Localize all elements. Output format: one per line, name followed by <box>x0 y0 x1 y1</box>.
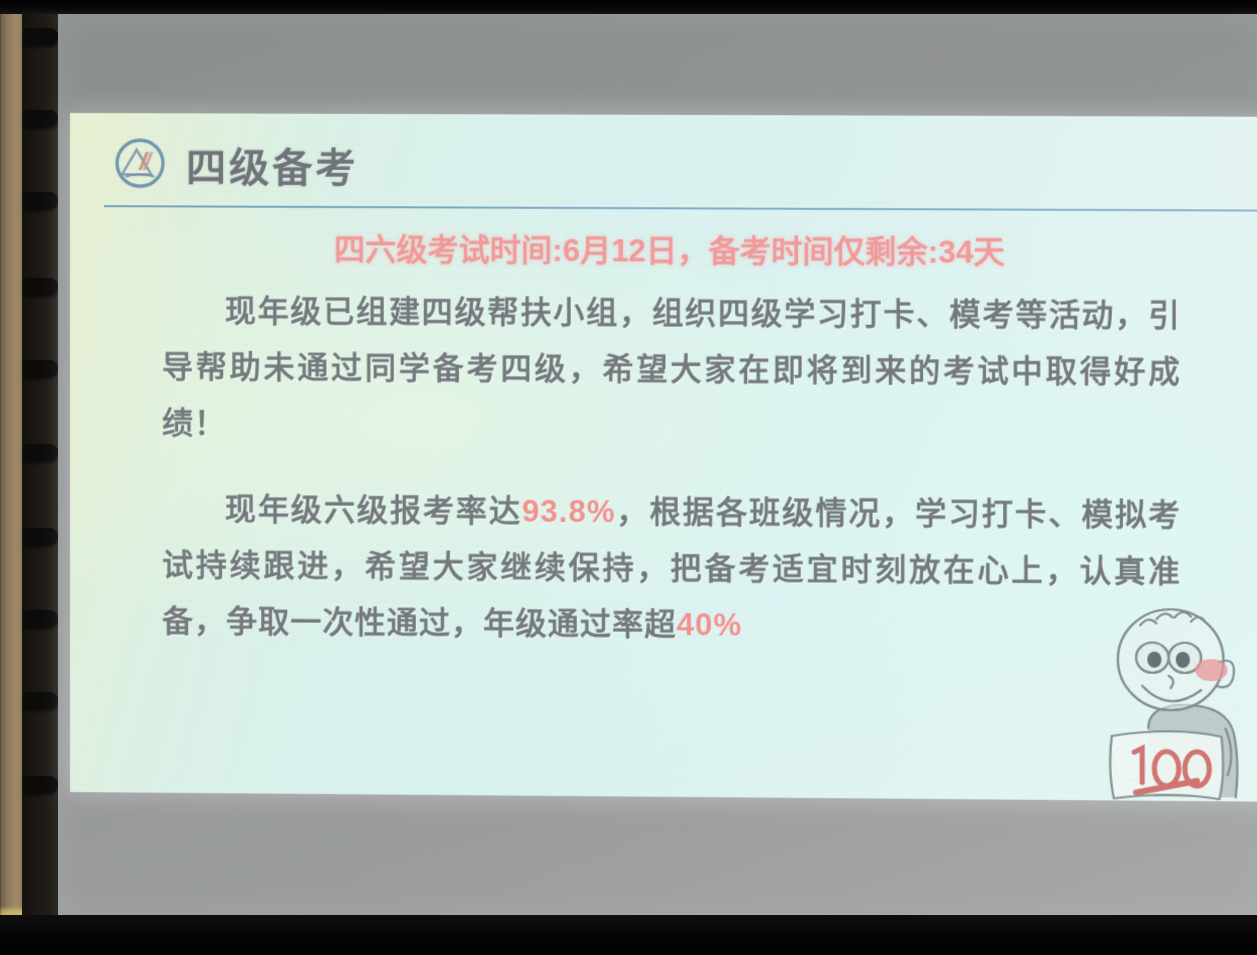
page-title: 四级备考 <box>186 135 358 194</box>
paragraph-cet6-registration-rate: 现年级六级报考率达93.8%，根据各班级情况，学习打卡、模拟考试持续跟进，希望大… <box>162 482 1181 657</box>
boy-holding-100-score-paper-icon <box>1091 599 1257 802</box>
board-clip <box>24 360 58 377</box>
classroom-projection-photo: 四级备考 四六级考试时间:6月12日，备考时间仅剩余:34天 现年级已组建四级帮… <box>0 0 1257 955</box>
paragraph-text: 现年级六级报考率达 <box>224 492 522 529</box>
paragraph-text: 现年级已组建四级帮扶小组，组织四级学习打卡、模考等活动，引导帮助未通过同学备考四… <box>162 294 1181 441</box>
board-clip <box>24 776 58 793</box>
slide-header: 四级备考 <box>70 113 1257 214</box>
photo-bottom-black-band <box>0 915 1257 955</box>
board-clip <box>24 192 58 209</box>
board-clip <box>24 444 58 461</box>
mountain-emblem-logo-icon <box>112 135 168 191</box>
board-clip <box>24 692 58 709</box>
board-clip <box>24 110 58 127</box>
exam-countdown-headline: 四六级考试时间:6月12日，备考时间仅剩余:34天 <box>70 223 1257 273</box>
photo-top-black-band <box>0 0 1257 14</box>
paragraph-cet4-support-group: 现年级已组建四级帮扶小组，组织四级学习打卡、模考等活动，引导帮助未通过同学备考四… <box>162 283 1181 457</box>
registration-rate-value: 93.8% <box>522 494 616 530</box>
board-clip <box>24 28 58 45</box>
board-clip <box>24 610 58 627</box>
board-clip <box>24 528 58 545</box>
presentation-slide: 四级备考 四六级考试时间:6月12日，备考时间仅剩余:34天 现年级已组建四级帮… <box>70 113 1257 802</box>
board-clip <box>24 278 58 295</box>
pass-rate-value: 40% <box>677 607 743 643</box>
